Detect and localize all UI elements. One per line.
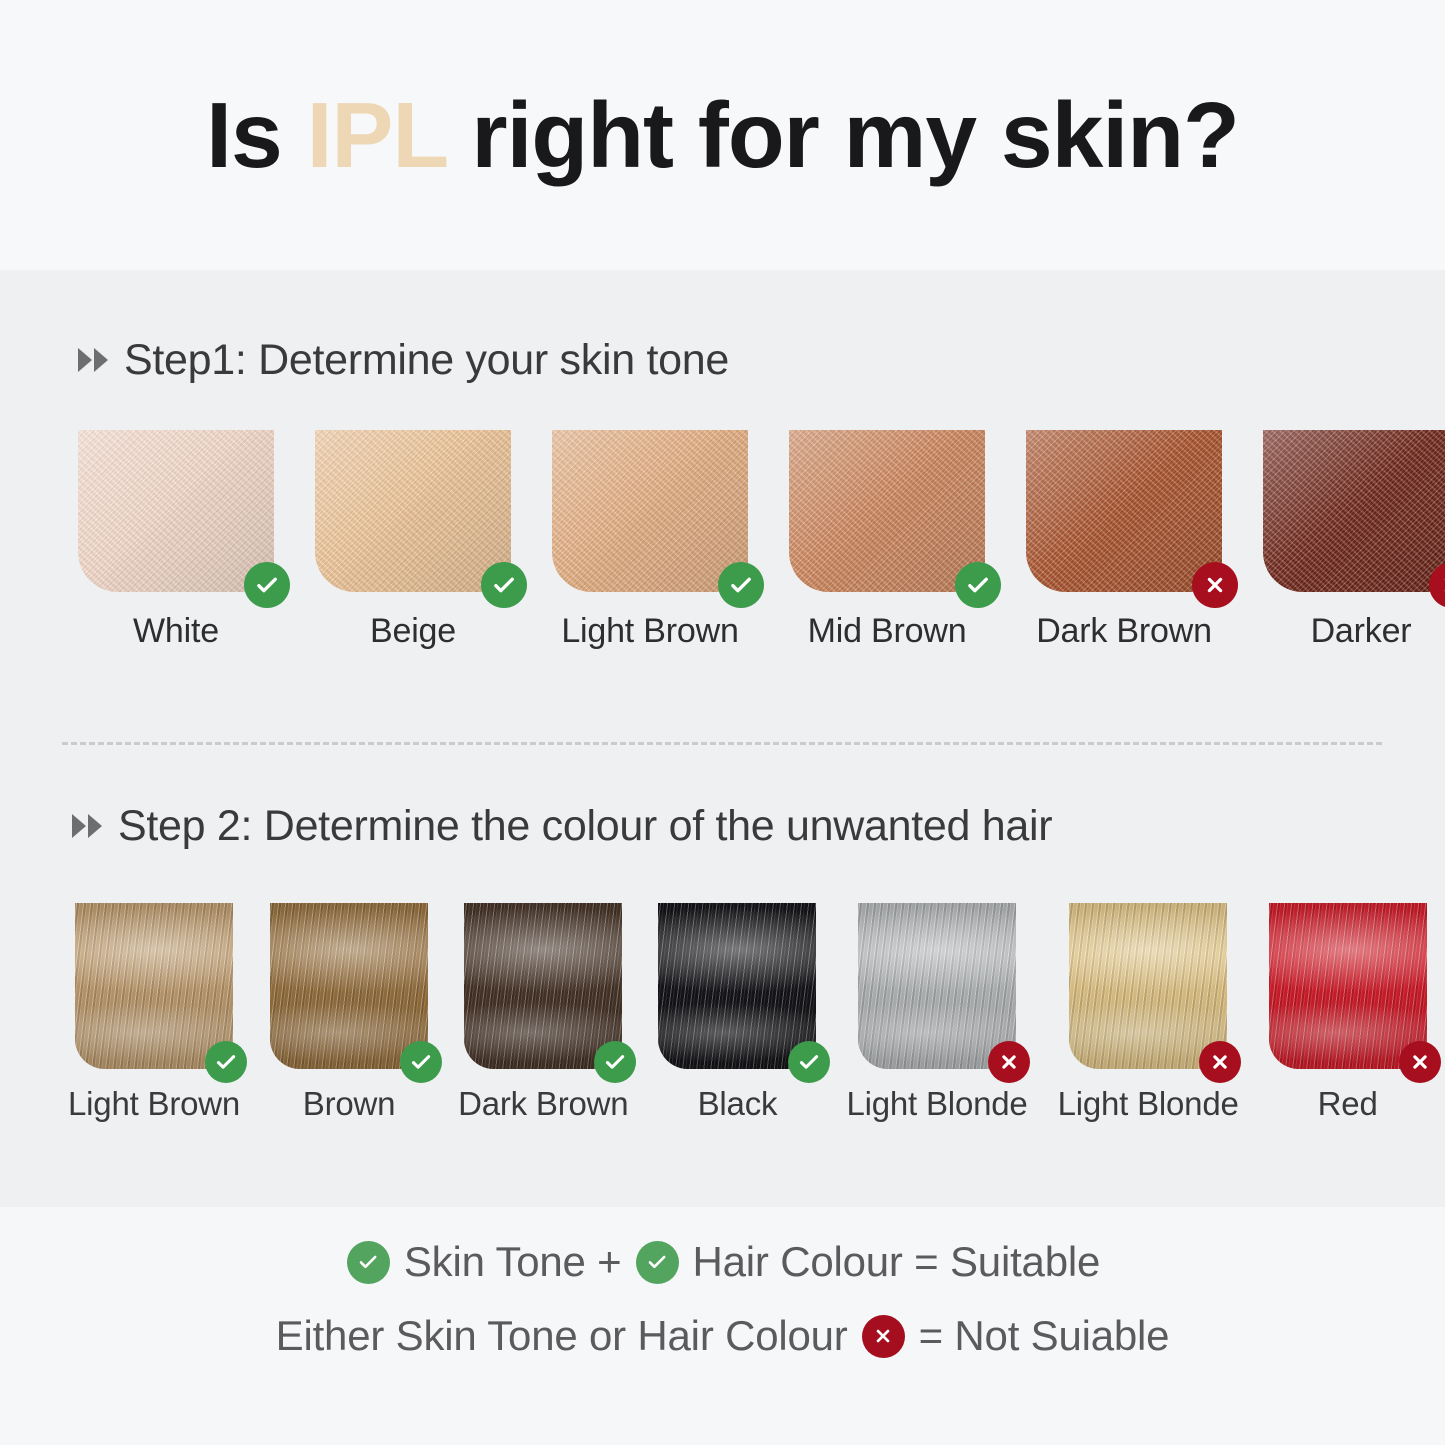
legend-line-suitable: Skin Tone + Hair Colour = Suitable [339, 1238, 1106, 1286]
skin-swatch-image-mid-brown [789, 430, 985, 592]
skin-swatch-image-dark-brown [1026, 430, 1222, 592]
title-after: right for my skin? [447, 83, 1239, 187]
skin-swatch-image-white [78, 430, 274, 592]
page-title: Is IPL right for my skin? [206, 89, 1239, 182]
check-icon [244, 562, 290, 608]
check-icon [347, 1241, 390, 1284]
hair-swatch-image-dark-brown [464, 903, 622, 1069]
header-band: Is IPL right for my skin? [0, 0, 1445, 270]
cross-icon [1399, 1041, 1441, 1083]
legend-text-not-suitable: = Not Suiable [913, 1312, 1176, 1360]
hair-swatch-image-brown [270, 903, 428, 1069]
skin-swatch-image-beige [315, 430, 511, 592]
step2-heading: Step 2: Determine the colour of the unwa… [72, 802, 1052, 851]
step2-heading-text: Step 2: Determine the colour of the unwa… [118, 802, 1052, 851]
hair-swatch-label: Brown [303, 1085, 396, 1123]
hair-swatch-label: Light Blonde [1058, 1085, 1239, 1123]
check-icon [400, 1041, 442, 1083]
legend-text-either: Either Skin Tone or Hair Colour [270, 1312, 854, 1360]
cross-icon [1199, 1041, 1241, 1083]
skin-swatch-label: Darker [1311, 612, 1412, 651]
hair-swatch-light-brown[interactable]: Light Brown [68, 903, 240, 1123]
skin-swatch-light-brown[interactable]: Light Brown [552, 430, 748, 651]
hair-swatch-image-light-brown [75, 903, 233, 1069]
skin-swatch-label: Mid Brown [808, 612, 967, 651]
cross-icon [988, 1041, 1030, 1083]
skin-swatch-white[interactable]: White [78, 430, 274, 651]
legend-text-skin-tone: Skin Tone + [398, 1238, 628, 1286]
skin-swatch-dark-brown[interactable]: Dark Brown [1026, 430, 1222, 651]
ipl-suitability-infographic: Is IPL right for my skin? Step1: Determi… [0, 0, 1445, 1445]
legend: Skin Tone + Hair Colour = Suitable Eithe… [0, 1238, 1445, 1360]
hair-swatch-label: Light Brown [68, 1085, 240, 1123]
hair-swatch-image-light-blonde-silver [858, 903, 1016, 1069]
hair-swatch-image-light-blonde-gold [1069, 903, 1227, 1069]
check-icon [594, 1041, 636, 1083]
hair-swatch-light-blonde-gold[interactable]: Light Blonde [1058, 903, 1239, 1123]
cross-icon [1192, 562, 1238, 608]
check-icon [718, 562, 764, 608]
step1-heading: Step1: Determine your skin tone [78, 336, 729, 385]
skin-swatch-label: Light Brown [561, 612, 738, 651]
hair-swatch-light-blonde-silver[interactable]: Light Blonde [846, 903, 1027, 1123]
check-icon [955, 562, 1001, 608]
hair-swatch-image-black [658, 903, 816, 1069]
hair-swatch-red[interactable]: Red [1269, 903, 1427, 1123]
cross-icon [862, 1315, 905, 1358]
check-icon [636, 1241, 679, 1284]
skin-swatch-mid-brown[interactable]: Mid Brown [789, 430, 985, 651]
skin-swatch-image-darker [1263, 430, 1445, 592]
skin-swatch-image-light-brown [552, 430, 748, 592]
hair-swatch-label: Dark Brown [458, 1085, 628, 1123]
hair-swatch-dark-brown[interactable]: Dark Brown [458, 903, 628, 1123]
check-icon [205, 1041, 247, 1083]
title-before: Is [206, 83, 306, 187]
skin-swatch-beige[interactable]: Beige [315, 430, 511, 651]
skin-swatch-label: White [133, 612, 219, 651]
hair-swatch-label: Light Blonde [846, 1085, 1027, 1123]
legend-text-hair-colour-suitable: Hair Colour = Suitable [687, 1238, 1107, 1286]
hair-swatch-brown[interactable]: Brown [270, 903, 428, 1123]
title-accent: IPL [307, 83, 447, 187]
double-triangle-icon [78, 348, 108, 372]
step1-heading-text: Step1: Determine your skin tone [124, 336, 729, 385]
hair-swatch-image-red [1269, 903, 1427, 1069]
skin-swatch-label: Beige [370, 612, 456, 651]
skin-swatch-darker[interactable]: Darker [1263, 430, 1445, 651]
hair-swatch-label: Black [698, 1085, 778, 1123]
section-divider [62, 742, 1382, 745]
double-triangle-icon [72, 814, 102, 838]
legend-line-not-suitable: Either Skin Tone or Hair Colour = Not Su… [270, 1312, 1176, 1360]
skin-tone-swatch-row: White Beige Light Brown [78, 430, 1445, 651]
hair-colour-swatch-row: Light Brown Brown Dark Brown [68, 903, 1427, 1123]
skin-swatch-label: Dark Brown [1036, 612, 1212, 651]
hair-swatch-black[interactable]: Black [658, 903, 816, 1123]
check-icon [788, 1041, 830, 1083]
hair-swatch-label: Red [1318, 1085, 1378, 1123]
check-icon [481, 562, 527, 608]
